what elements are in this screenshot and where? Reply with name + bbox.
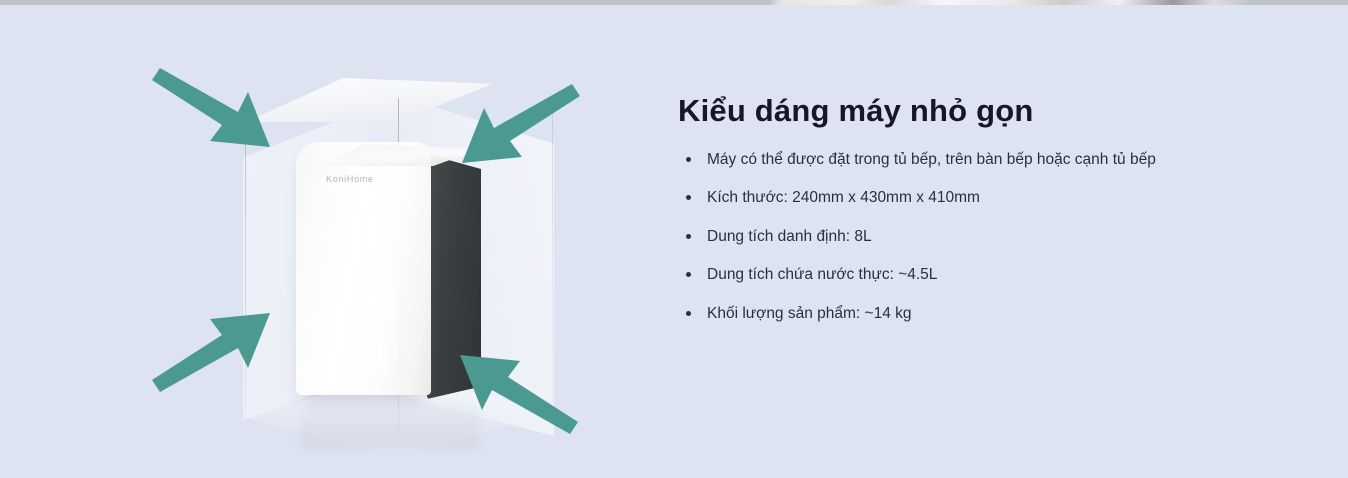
list-item: Khối lượng sản phẩm: ~14 kg: [678, 304, 1318, 323]
list-item: Dung tích chứa nước thực: ~4.5L: [678, 265, 1318, 284]
list-item: Máy có thể được đặt trong tủ bếp, trên b…: [678, 150, 1318, 169]
bullet-dot-icon: [686, 195, 691, 200]
list-item-label: Khối lượng sản phẩm: ~14 kg: [707, 305, 912, 322]
list-item-label: Dung tích danh định: 8L: [707, 228, 872, 245]
product-brand-logo: KoniHome: [326, 174, 374, 184]
product-illustration: KoniHome: [0, 0, 660, 478]
page-title: Kiểu dáng máy nhỏ gọn: [678, 94, 1318, 128]
compact-design-section: KoniHome Kiểu dáng máy nhỏ gọn: [0, 0, 1348, 478]
list-item-label: Kích thước: 240mm x 430mm x 410mm: [707, 189, 980, 206]
arrow-top-left-icon: [152, 68, 270, 150]
list-item: Dung tích danh định: 8L: [678, 227, 1318, 246]
bullet-dot-icon: [686, 157, 691, 162]
bullet-dot-icon: [686, 272, 691, 277]
list-item-label: Máy có thể được đặt trong tủ bếp, trên b…: [707, 151, 1156, 168]
arrow-bottom-left-icon: [152, 310, 270, 392]
bullet-dot-icon: [686, 311, 691, 316]
bullet-dot-icon: [686, 234, 691, 239]
copy-block: Kiểu dáng máy nhỏ gọn Máy có thể được đặ…: [678, 94, 1318, 323]
feature-list: Máy có thể được đặt trong tủ bếp, trên b…: [678, 150, 1318, 323]
product-reflection: [300, 396, 480, 448]
list-item-label: Dung tích chứa nước thực: ~4.5L: [707, 266, 937, 283]
list-item: Kích thước: 240mm x 430mm x 410mm: [678, 188, 1318, 207]
arrow-bottom-right-icon: [460, 352, 578, 434]
arrow-top-right-icon: [462, 84, 580, 166]
water-purifier-unit: KoniHome: [296, 142, 482, 402]
